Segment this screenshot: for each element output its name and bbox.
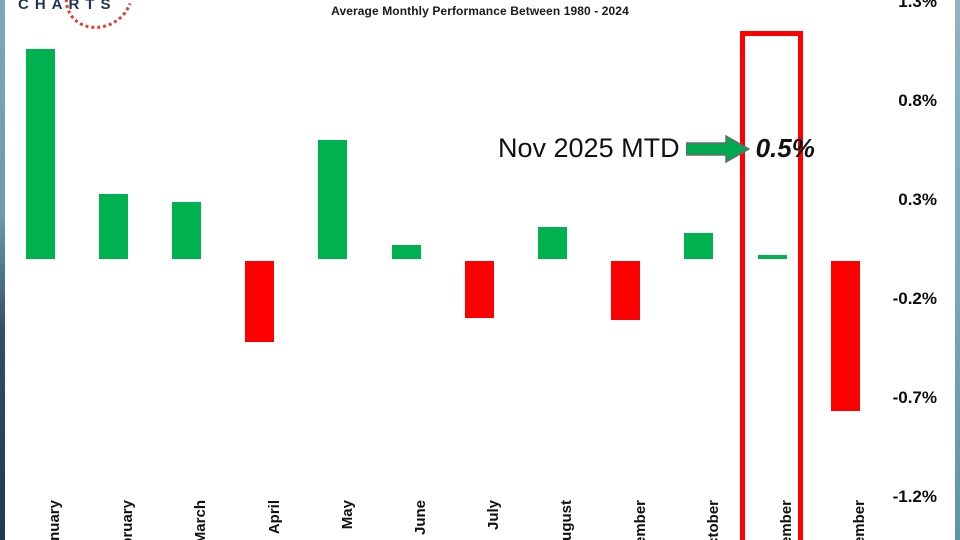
x-axis-label-april: April <box>266 500 283 534</box>
november-highlight-box <box>740 31 803 540</box>
y-axis-tick-label: -0.2% <box>893 289 937 309</box>
x-axis-label-january: January <box>46 500 63 540</box>
bar-may[interactable] <box>318 140 347 259</box>
right-border-accent <box>955 0 960 540</box>
y-axis-tick-label: -0.7% <box>893 388 937 408</box>
y-axis-tick-label: 0.3% <box>898 190 937 210</box>
x-axis-label-february: February <box>119 500 136 540</box>
bar-june[interactable] <box>392 245 421 259</box>
x-axis-label-july: July <box>485 500 502 530</box>
bar-april[interactable] <box>245 261 274 342</box>
x-axis-label-december: December <box>851 500 868 540</box>
bar-january[interactable] <box>26 49 55 259</box>
mtd-annotation-value: 0.5% <box>756 133 815 164</box>
x-axis-label-may: May <box>339 500 356 529</box>
y-axis-tick-label: 0.8% <box>898 91 937 111</box>
x-axis-label-march: March <box>192 500 209 540</box>
mtd-annotation-label: Nov 2025 MTD <box>498 133 680 164</box>
y-axis-tick-label: 1.3% <box>898 0 937 12</box>
y-axis-tick-label: -1.2% <box>893 487 937 507</box>
bar-july[interactable] <box>465 261 494 318</box>
x-axis-label-october: October <box>705 500 722 540</box>
bar-march[interactable] <box>172 202 201 259</box>
x-axis-label-june: June <box>412 500 429 535</box>
x-axis-label-august: August <box>558 500 575 540</box>
bar-august[interactable] <box>538 227 567 259</box>
y-axis: 1.3%0.8%0.3%-0.2%-0.7%-1.2% <box>885 0 955 540</box>
bar-december[interactable] <box>831 261 860 411</box>
bar-october[interactable] <box>684 233 713 259</box>
right-arrow-icon <box>686 134 750 164</box>
x-axis-label-september: September <box>632 500 649 540</box>
bar-september[interactable] <box>611 261 640 320</box>
bar-february[interactable] <box>99 194 128 259</box>
chart-screenshot: CHARTS Average Monthly Performance Betwe… <box>0 0 960 540</box>
mtd-annotation: Nov 2025 MTD 0.5% <box>498 133 815 164</box>
